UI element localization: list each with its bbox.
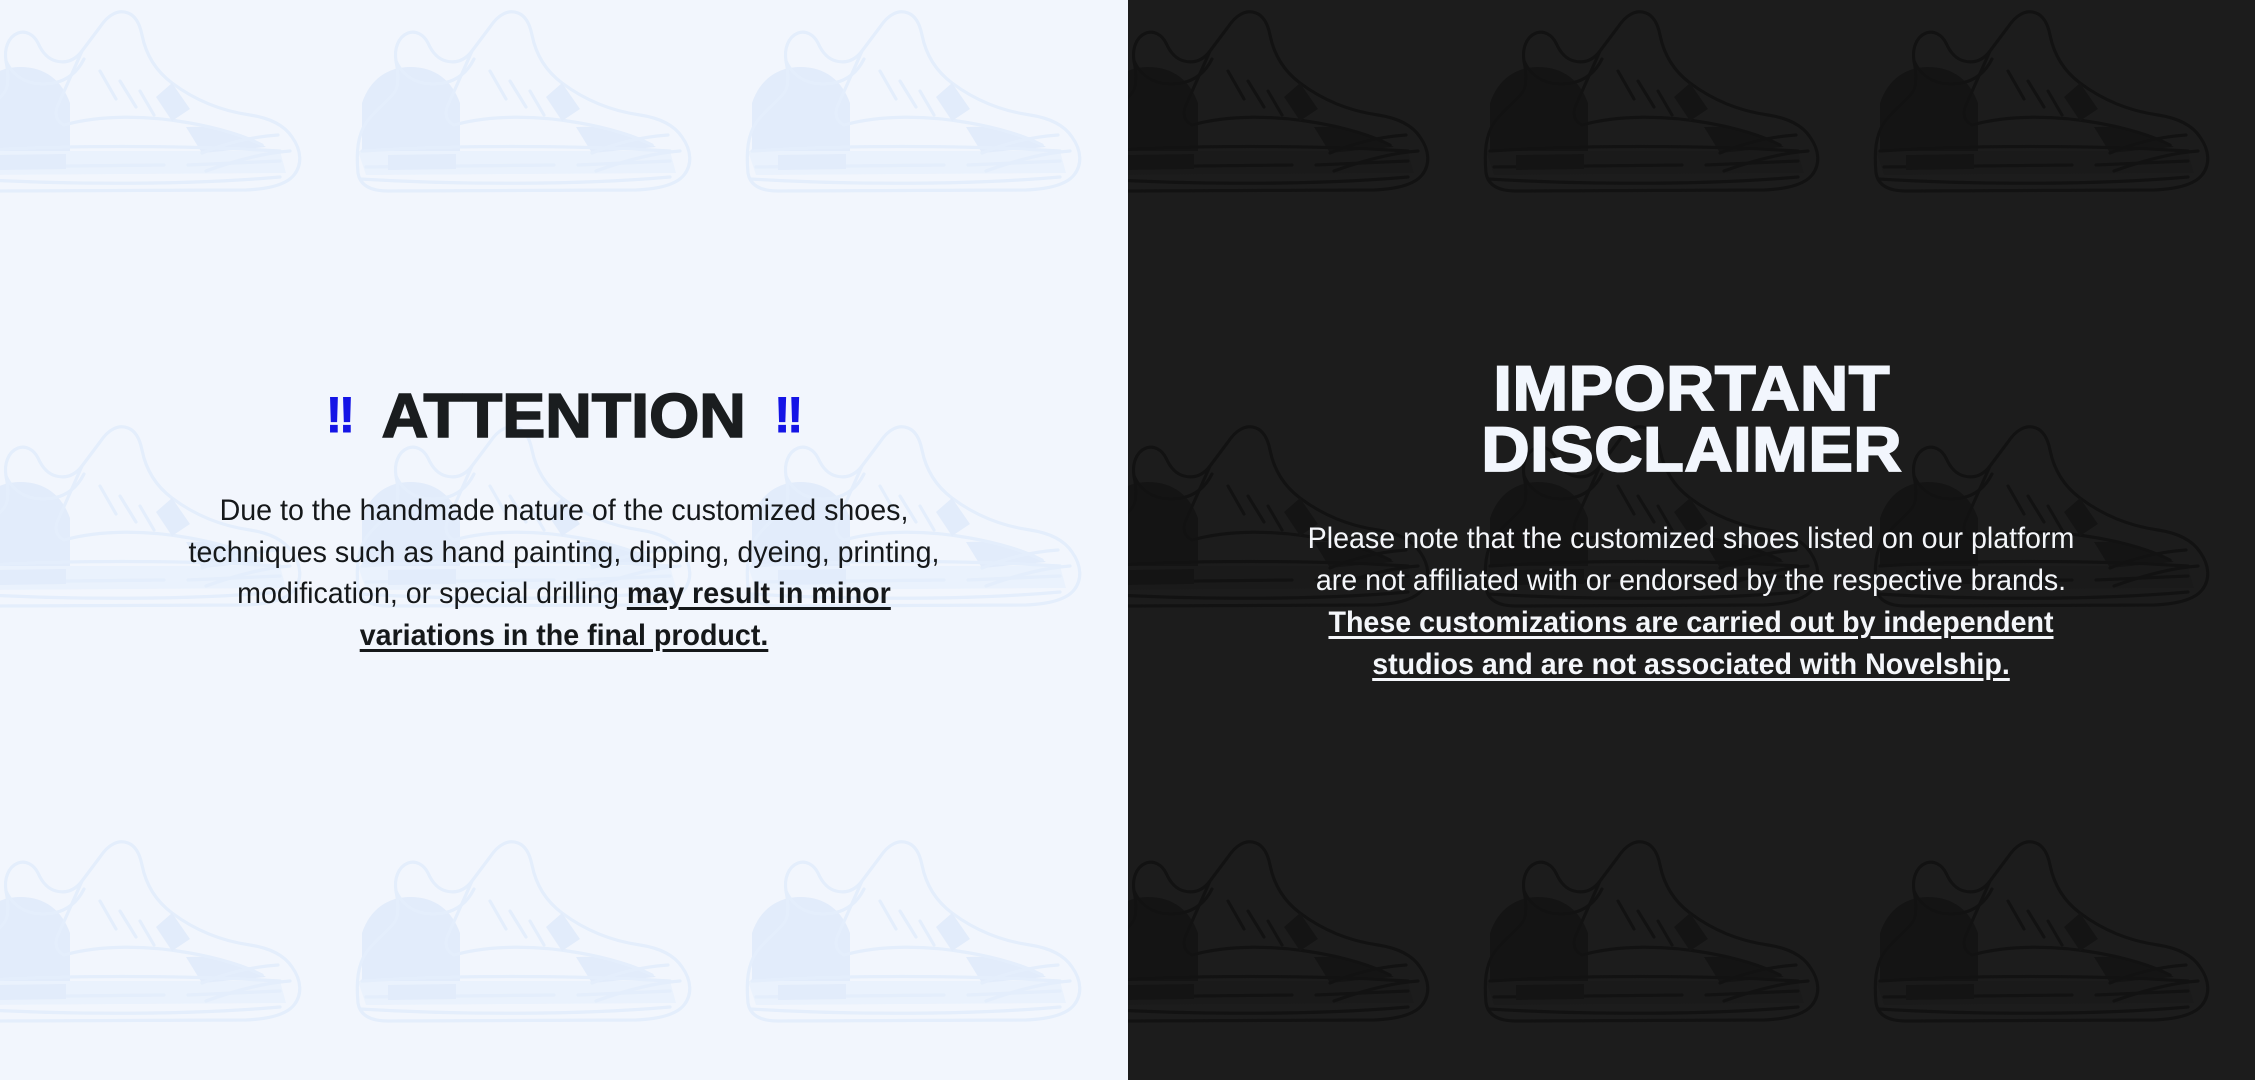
double-exclamation-right-icon: ‼ [774,390,801,440]
disclaimer-heading-line-1: IMPORTANT [1157,359,2225,421]
disclaimer-body-emphasis: These customizations are carried out by … [1329,606,2054,681]
double-exclamation-left-icon: ‼ [326,390,353,440]
disclaimer-body: Please note that the customized shoes li… [1298,518,2084,686]
attention-body: Due to the handmade nature of the custom… [176,490,952,658]
disclaimer-heading: IMPORTANT DISCLAIMER [1157,359,2225,482]
attention-content: ‼ ATTENTION ‼ Due to the handmade nature… [0,387,1128,657]
disclaimer-content: IMPORTANT DISCLAIMER Please note that th… [1128,359,2255,686]
disclaimer-body-plain: Please note that the customized shoes li… [1308,522,2075,597]
disclaimer-banner: ‼ ATTENTION ‼ Due to the handmade nature… [0,0,2255,1080]
attention-panel: ‼ ATTENTION ‼ Due to the handmade nature… [0,0,1128,1080]
attention-heading: ‼ ATTENTION ‼ [40,387,1088,448]
attention-heading-text: ATTENTION [382,387,746,448]
disclaimer-heading-line-2: DISCLAIMER [1157,420,2225,482]
disclaimer-panel: IMPORTANT DISCLAIMER Please note that th… [1128,0,2255,1080]
